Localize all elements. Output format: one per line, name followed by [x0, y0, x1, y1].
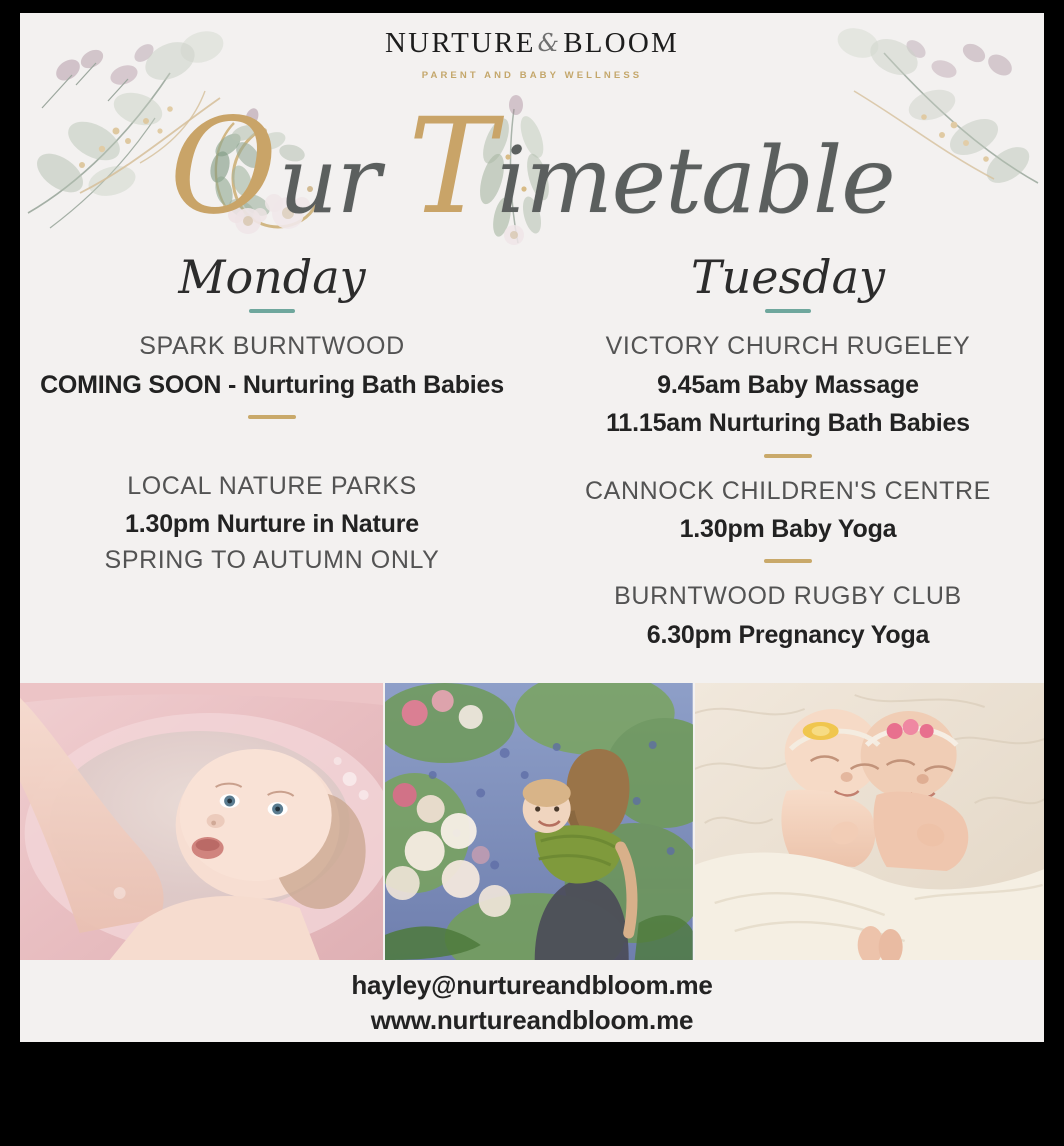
venue-name: VICTORY CHURCH RUGELEY — [550, 331, 1026, 362]
page-title-text: Our Timetable — [169, 90, 894, 244]
timetable-columns: Monday SPARK BURNTWOOD COMING SOON - Nur… — [20, 253, 1044, 651]
day-divider-teal — [765, 309, 811, 313]
contact-website[interactable]: www.nurtureandbloom.me — [20, 1003, 1044, 1038]
day-divider-teal — [249, 309, 295, 313]
block-divider-gold — [764, 559, 812, 563]
block-divider-gold — [248, 415, 296, 419]
day-name-monday: Monday — [30, 253, 514, 301]
session-entry: 9.45am Baby Massage — [550, 369, 1026, 402]
title-word2-rest: imetable — [497, 127, 895, 234]
photo-strip — [20, 683, 1044, 960]
footer-contact: hayley@nurtureandbloom.me www.nurtureand… — [20, 968, 1044, 1038]
title-initial-o: O — [169, 90, 278, 244]
session-entry: COMING SOON - Nurturing Bath Babies — [30, 369, 514, 402]
brand-name-part1: NURTURE — [385, 27, 536, 59]
brand-header: NURTURE&BLOOM PARENT AND BABY WELLNESS — [20, 13, 1044, 81]
venue-name: LOCAL NATURE PARKS — [30, 471, 514, 502]
spacer — [30, 435, 514, 453]
poster-canvas: NURTURE&BLOOM PARENT AND BABY WELLNESS — [20, 13, 1044, 1042]
schedule-block: BURNTWOOD RUGBY CLUB 6.30pm Pregnancy Yo… — [550, 581, 1026, 651]
venue-name: SPARK BURNTWOOD — [30, 331, 514, 362]
schedule-block: CANNOCK CHILDREN'S CENTRE 1.30pm Baby Yo… — [550, 476, 1026, 546]
photo-nature-walk — [385, 683, 692, 960]
schedule-block: VICTORY CHURCH RUGELEY 9.45am Baby Massa… — [550, 331, 1026, 439]
ampersand-glyph: & — [536, 29, 564, 57]
day-column-tuesday: Tuesday VICTORY CHURCH RUGELEY 9.45am Ba… — [532, 253, 1044, 651]
contact-email[interactable]: hayley@nurtureandbloom.me — [20, 968, 1044, 1003]
session-entry: 6.30pm Pregnancy Yoga — [550, 619, 1026, 652]
day-column-monday: Monday SPARK BURNTWOOD COMING SOON - Nur… — [20, 253, 532, 651]
brand-name-part2: BLOOM — [563, 27, 679, 59]
venue-name: BURNTWOOD RUGBY CLUB — [550, 581, 1026, 612]
day-name-tuesday: Tuesday — [550, 253, 1026, 301]
page-title: Our Timetable — [20, 87, 1044, 247]
brand-name: NURTURE&BLOOM — [20, 27, 1044, 60]
title-word1-rest: ur — [278, 127, 379, 234]
schedule-block: LOCAL NATURE PARKS 1.30pm Nurture in Nat… — [30, 471, 514, 575]
session-entry: 11.15am Nurturing Bath Babies — [550, 407, 1026, 440]
session-note: SPRING TO AUTUMN ONLY — [30, 546, 514, 575]
photo-baby-bath — [20, 683, 383, 960]
brand-tagline: PARENT AND BABY WELLNESS — [20, 70, 1044, 81]
block-divider-gold — [764, 454, 812, 458]
venue-name: CANNOCK CHILDREN'S CENTRE — [550, 476, 1026, 507]
photo-newborn-twins — [695, 683, 1044, 960]
session-entry: 1.30pm Baby Yoga — [550, 513, 1026, 546]
schedule-block: SPARK BURNTWOOD COMING SOON - Nurturing … — [30, 331, 514, 401]
title-initial-t: T — [408, 90, 497, 244]
session-entry: 1.30pm Nurture in Nature — [30, 508, 514, 541]
